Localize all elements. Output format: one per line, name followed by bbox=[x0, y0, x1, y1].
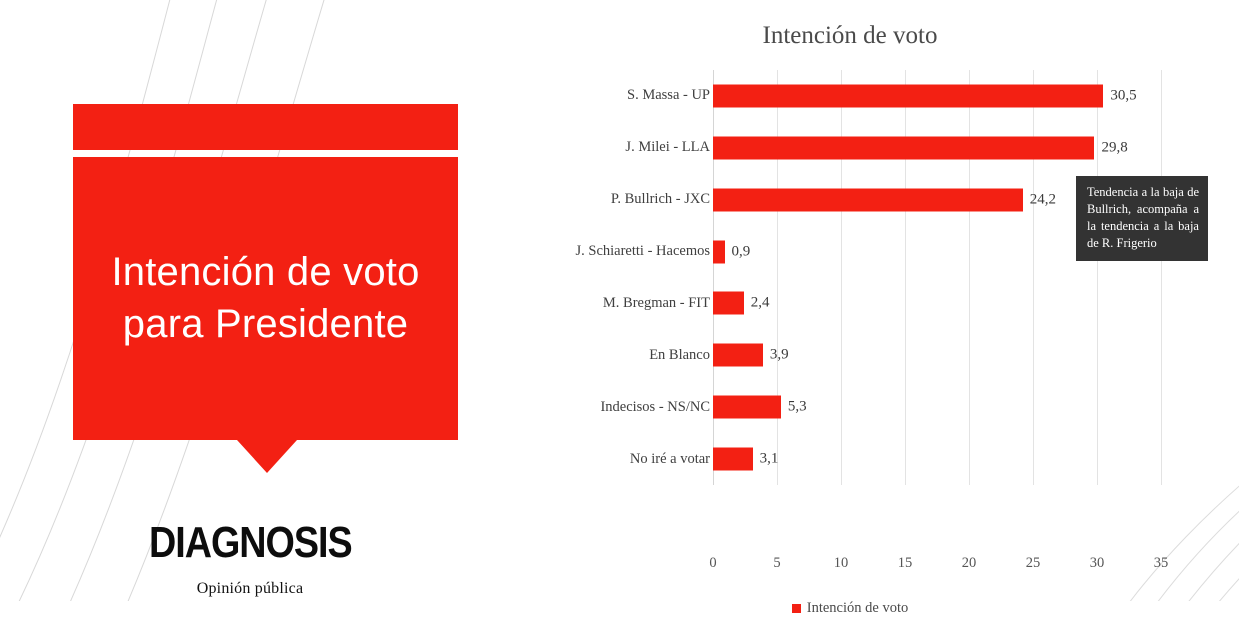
category-label: J. Milei - LLA bbox=[470, 139, 710, 156]
category-label: M. Bregman - FIT bbox=[470, 295, 710, 312]
logo-subtitle: Opinión pública bbox=[0, 580, 500, 598]
category-label: No iré a votar bbox=[470, 451, 710, 468]
brand-logo: DIAGNOSIS Opinión pública bbox=[0, 522, 500, 598]
bar-value-label: 3,1 bbox=[760, 451, 779, 468]
bar bbox=[713, 240, 725, 263]
bar bbox=[713, 344, 763, 367]
x-axis-tick-label: 20 bbox=[962, 555, 977, 572]
legend-swatch-icon bbox=[792, 604, 801, 613]
bar-value-label: 30,5 bbox=[1110, 87, 1136, 104]
category-label: Indecisos - NS/NC bbox=[470, 399, 710, 416]
bar bbox=[713, 84, 1103, 107]
x-axis-tick-label: 30 bbox=[1090, 555, 1105, 572]
bar bbox=[713, 292, 744, 315]
x-axis: 05101520253035 bbox=[500, 555, 1239, 579]
bar bbox=[713, 188, 1023, 211]
chart-title: Intención de voto bbox=[500, 22, 1200, 50]
bar-value-label: 5,3 bbox=[788, 399, 807, 416]
chart-bars: S. Massa - UP30,5J. Milei - LLA29,8P. Bu… bbox=[500, 70, 1239, 485]
category-label: En Blanco bbox=[470, 347, 710, 364]
bar bbox=[713, 136, 1094, 159]
chart-bar-row: Indecisos - NS/NC5,3 bbox=[500, 381, 1239, 433]
title-panel: Intención de voto para Presidente DIAGNO… bbox=[0, 0, 500, 601]
bar bbox=[713, 396, 781, 419]
x-axis-tick-label: 25 bbox=[1026, 555, 1041, 572]
x-axis-tick-label: 35 bbox=[1154, 555, 1169, 572]
panel-top-bar bbox=[73, 104, 458, 150]
chart-bar-row: En Blanco3,9 bbox=[500, 329, 1239, 381]
chart-bar-row: No iré a votar3,1 bbox=[500, 433, 1239, 485]
bar-value-label: 3,9 bbox=[770, 347, 789, 364]
x-axis-tick-label: 0 bbox=[709, 555, 716, 572]
category-label: S. Massa - UP bbox=[470, 87, 710, 104]
annotation-callout: Tendencia a la baja de Bullrich, acompañ… bbox=[1076, 176, 1208, 261]
logo-wordmark: DIAGNOSIS bbox=[149, 518, 352, 568]
category-label: J. Schiaretti - Hacemos bbox=[470, 243, 710, 260]
bar-value-label: 0,9 bbox=[732, 243, 751, 260]
x-axis-tick-label: 10 bbox=[834, 555, 849, 572]
legend-label: Intención de voto bbox=[807, 600, 908, 617]
chart-bar-row: S. Massa - UP30,5 bbox=[500, 70, 1239, 122]
chart-container: Intención de voto S. Massa - UP30,5J. Mi… bbox=[500, 0, 1239, 601]
chart-bar-row: M. Bregman - FIT2,4 bbox=[500, 278, 1239, 330]
plot-area: S. Massa - UP30,5J. Milei - LLA29,8P. Bu… bbox=[500, 70, 1239, 490]
panel-headline: Intención de voto para Presidente bbox=[73, 157, 458, 440]
x-axis-tick-label: 5 bbox=[773, 555, 780, 572]
bar-value-label: 24,2 bbox=[1030, 191, 1056, 208]
bar-value-label: 29,8 bbox=[1101, 139, 1127, 156]
category-label: P. Bullrich - JXC bbox=[470, 191, 710, 208]
x-axis-tick-label: 15 bbox=[898, 555, 913, 572]
bar-value-label: 2,4 bbox=[751, 295, 770, 312]
chart-bar-row: J. Milei - LLA29,8 bbox=[500, 122, 1239, 174]
bar bbox=[713, 448, 753, 471]
speech-bubble-tail-icon bbox=[237, 440, 297, 473]
chart-legend: Intención de voto bbox=[500, 600, 1200, 617]
